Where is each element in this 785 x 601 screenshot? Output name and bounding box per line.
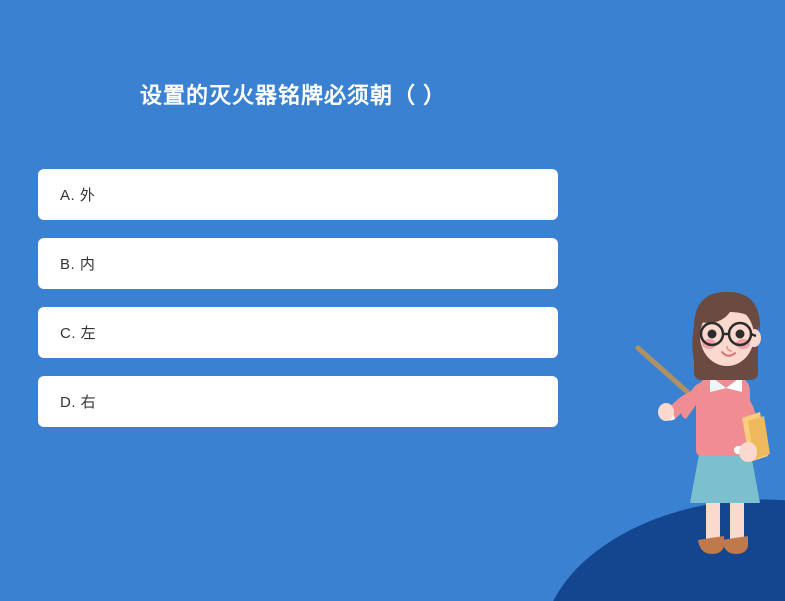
option-label-c: C. 左 xyxy=(60,322,96,343)
option-card-c[interactable]: C. 左 xyxy=(38,307,558,358)
quiz-question-screen: 设置的灭火器铭牌必须朝（ ） A. 外 B. 内 C. 左 D. 右 xyxy=(0,0,785,601)
shoes xyxy=(698,536,748,554)
left-hand xyxy=(658,403,674,421)
options-list: A. 外 B. 内 C. 左 D. 右 xyxy=(38,169,558,445)
option-label-d: D. 右 xyxy=(60,391,96,412)
option-label-a: A. 外 xyxy=(60,184,95,205)
option-card-a[interactable]: A. 外 xyxy=(38,169,558,220)
teacher-illustration xyxy=(630,288,785,588)
right-hand xyxy=(739,442,757,462)
pointer-stick-icon xyxy=(638,348,692,396)
option-card-b[interactable]: B. 内 xyxy=(38,238,558,289)
option-card-d[interactable]: D. 右 xyxy=(38,376,558,427)
option-label-b: B. 内 xyxy=(60,253,95,274)
page-title: 设置的灭火器铭牌必须朝（ ） xyxy=(140,80,446,112)
